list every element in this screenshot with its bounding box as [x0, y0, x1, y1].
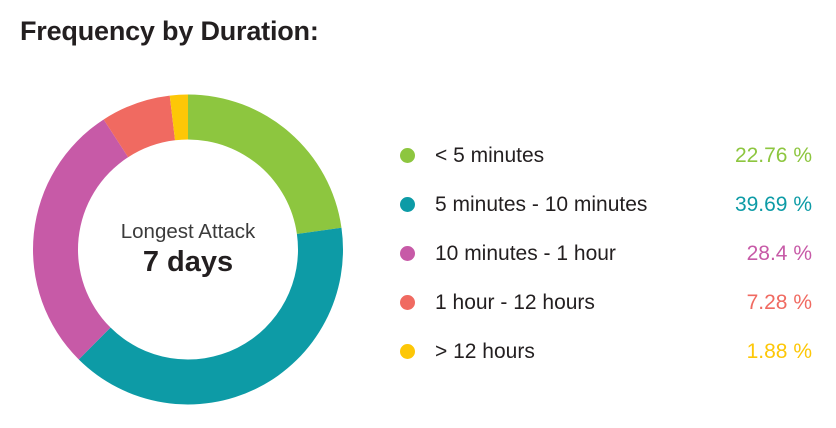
legend-item-value: 39.69 % — [735, 193, 812, 217]
circle-icon — [400, 148, 415, 163]
donut-chart-svg — [33, 94, 343, 405]
circle-icon — [400, 197, 415, 212]
circle-icon — [400, 246, 415, 261]
donut-slice[interactable] — [79, 228, 343, 405]
page-title: Frequency by Duration: — [20, 16, 319, 47]
chart-legend: < 5 minutes22.76 %5 minutes - 10 minutes… — [400, 131, 820, 376]
legend-item-value: 28.4 % — [747, 242, 812, 266]
circle-icon — [400, 344, 415, 359]
legend-item[interactable]: < 5 minutes22.76 % — [400, 131, 820, 180]
legend-item-value: 7.28 % — [747, 291, 812, 315]
legend-item-label: 5 minutes - 10 minutes — [435, 193, 647, 217]
legend-item-value: 1.88 % — [747, 340, 812, 364]
legend-item-label: < 5 minutes — [435, 144, 544, 168]
legend-item-label: 10 minutes - 1 hour — [435, 242, 616, 266]
legend-item[interactable]: 10 minutes - 1 hour28.4 % — [400, 229, 820, 278]
legend-item[interactable]: 1 hour - 12 hours7.28 % — [400, 278, 820, 327]
donut-chart: Longest Attack 7 days — [33, 94, 343, 405]
donut-slice[interactable] — [33, 119, 128, 359]
legend-item-label: 1 hour - 12 hours — [435, 291, 595, 315]
donut-slice[interactable] — [188, 95, 341, 235]
donut-slice-group — [33, 95, 343, 405]
legend-item[interactable]: > 12 hours1.88 % — [400, 327, 820, 376]
legend-item-label: > 12 hours — [435, 340, 535, 364]
legend-item[interactable]: 5 minutes - 10 minutes39.69 % — [400, 180, 820, 229]
legend-item-value: 22.76 % — [735, 144, 812, 168]
circle-icon — [400, 295, 415, 310]
